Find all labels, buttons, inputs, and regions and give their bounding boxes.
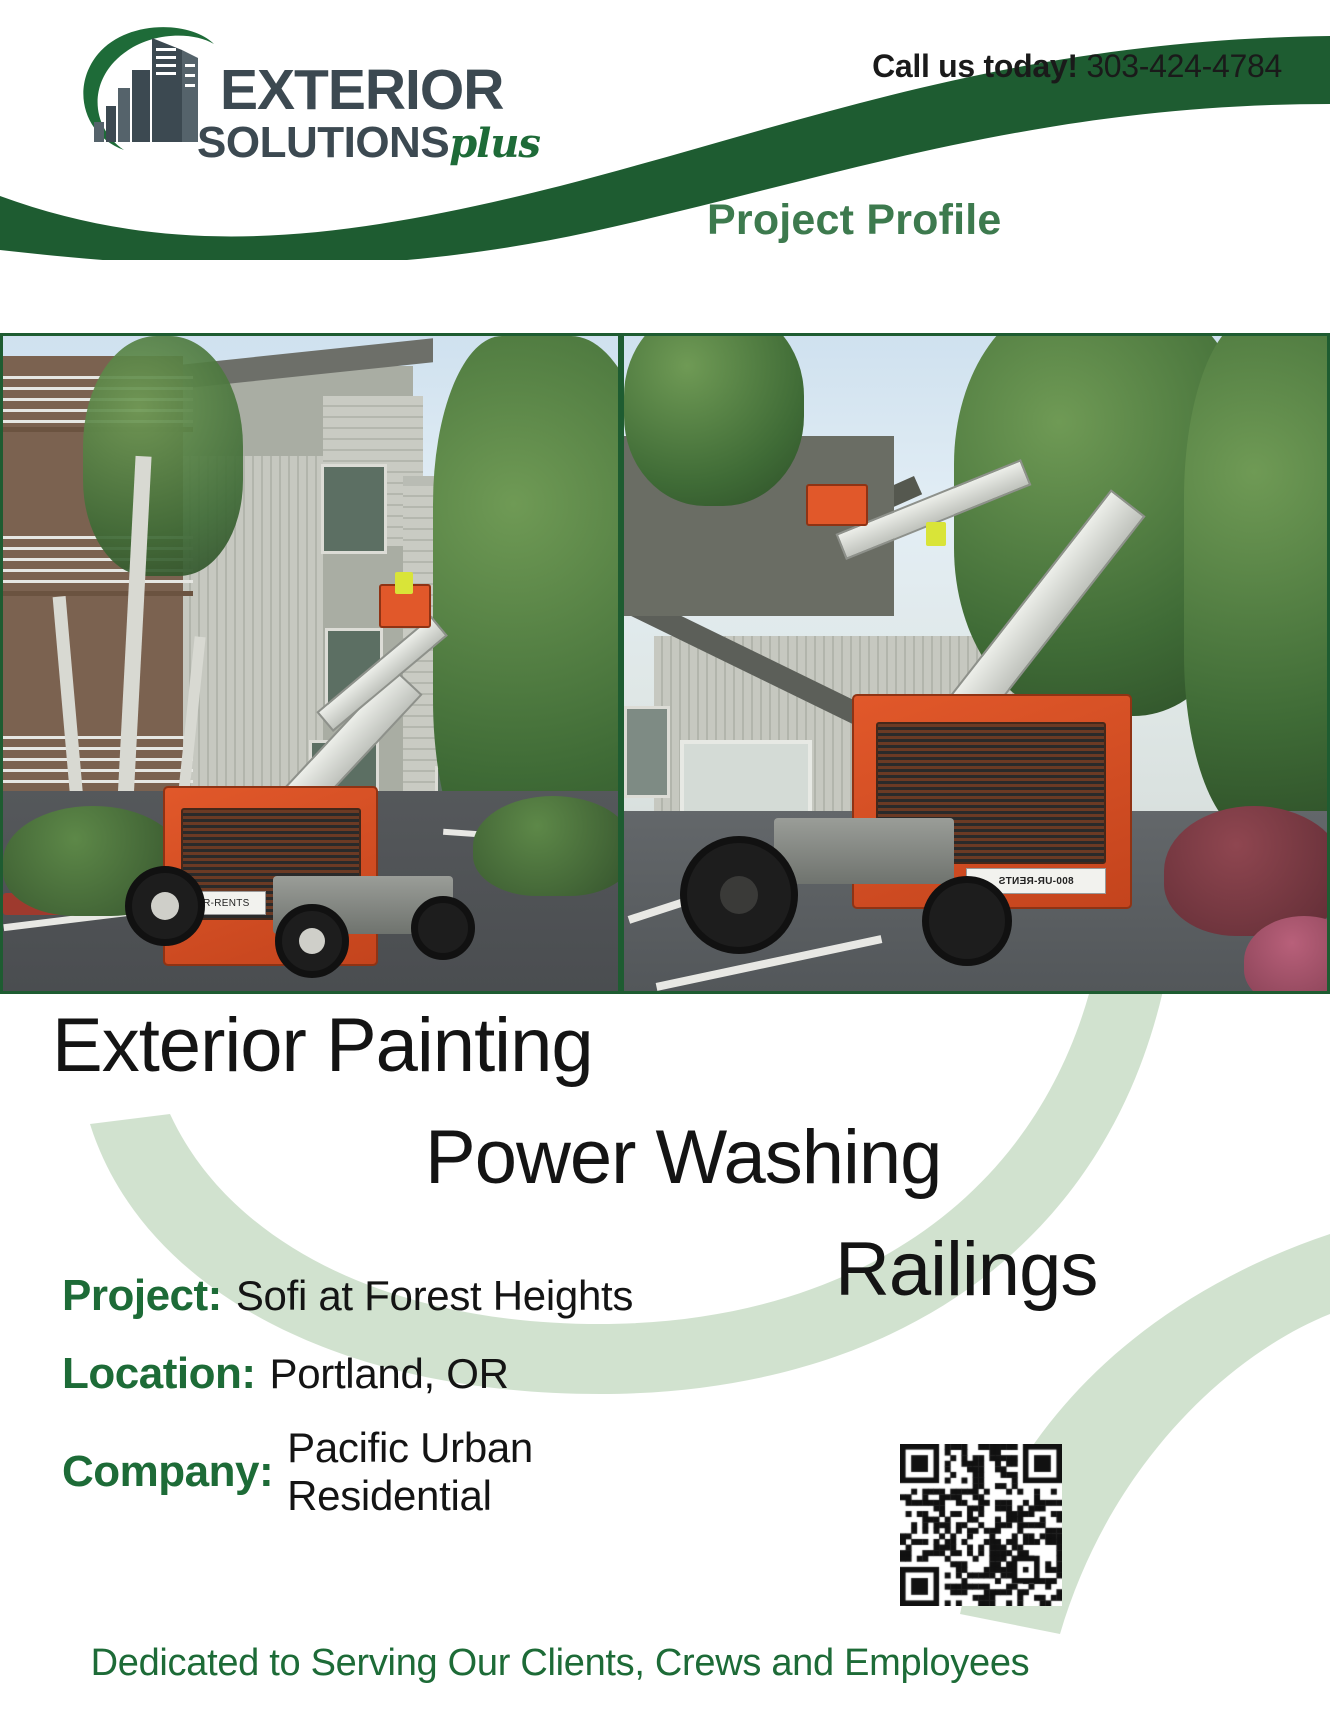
lift-wheel — [411, 896, 475, 960]
wheel-hub — [299, 928, 325, 954]
project-value: Sofi at Forest Heights — [236, 1272, 633, 1320]
photo-apartment-building-boom-lift-left: 800-UR-RENTS — [0, 333, 621, 994]
lift-chassis — [774, 818, 954, 884]
window — [321, 464, 387, 554]
detail-row-company: Company: Pacific Urban Residential — [62, 1424, 533, 1521]
detail-row-project: Project: Sofi at Forest Heights — [62, 1271, 633, 1321]
service-exterior-painting: Exterior Painting — [52, 1002, 593, 1089]
logo-wordmark: EXTERIOR — [220, 62, 503, 119]
tagline: Dedicated to Serving Our Clients, Crews … — [0, 1642, 1120, 1685]
phone-number[interactable]: 303-424-4784 — [1086, 48, 1282, 84]
worker — [926, 522, 946, 546]
location-value: Portland, OR — [269, 1350, 508, 1398]
location-label: Location: — [62, 1349, 255, 1399]
detail-row-location: Location: Portland, OR — [62, 1349, 509, 1399]
tree — [624, 333, 804, 506]
company-value-line2: Residential — [287, 1472, 533, 1520]
worker-in-basket — [395, 572, 413, 594]
service-railings: Railings — [835, 1226, 1097, 1313]
call-us-line: Call us today! 303-424-4784 — [872, 48, 1282, 85]
wheel-hub — [151, 892, 179, 920]
company-value: Pacific Urban Residential — [287, 1424, 533, 1521]
window — [624, 706, 670, 798]
call-us-label: Call us today! — [872, 48, 1078, 84]
qr-code[interactable] — [900, 1444, 1062, 1606]
page-title: Project Profile — [707, 196, 1002, 245]
lift-basket — [806, 484, 868, 526]
company-logo: EXTERIOR SOLUTIONSplus — [72, 18, 542, 173]
page-header: EXTERIOR SOLUTIONSplus Call us today! 30… — [0, 0, 1330, 333]
tree — [1184, 333, 1330, 836]
company-label: Company: — [62, 1447, 273, 1497]
service-power-washing: Power Washing — [425, 1114, 941, 1201]
photo-gabled-building-boom-lift-right: 800-UR-RENTS — [621, 333, 1330, 994]
company-value-line1: Pacific Urban — [287, 1424, 533, 1472]
photo-strip: 800-UR-RENTS 800-UR- — [0, 333, 1330, 994]
lower-content: Exterior Painting Power Washing Railings… — [0, 994, 1330, 1721]
logo-subword: SOLUTIONSplus — [197, 121, 540, 165]
lift-wheel — [922, 876, 1012, 966]
wheel-hub — [720, 876, 758, 914]
shrub — [473, 796, 621, 896]
logo-plus-script: plus — [449, 120, 540, 167]
project-label: Project: — [62, 1271, 222, 1321]
tree — [83, 336, 243, 576]
logo-subword-text: SOLUTIONS — [197, 118, 449, 167]
